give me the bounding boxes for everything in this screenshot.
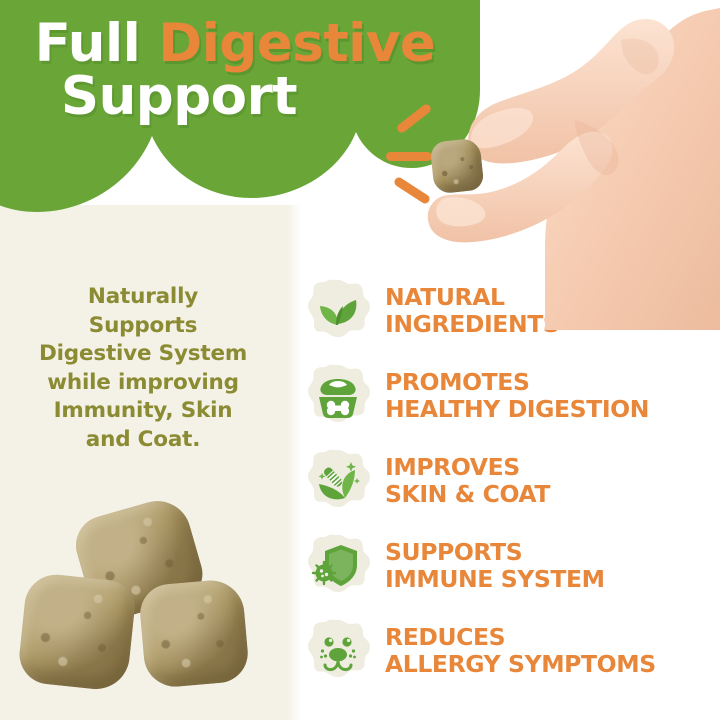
held-kibble	[429, 138, 484, 195]
left-line-4: Immunity, Skin	[8, 397, 278, 426]
benefit-line-1: PROMOTES	[385, 369, 649, 395]
benefit-line-2: ALLERGY SYMPTOMS	[385, 651, 656, 677]
left-description: Naturally Supports Digestive System whil…	[8, 283, 278, 455]
benefits-list: NATURAL INGREDIENTS PR	[305, 268, 720, 693]
benefit-item-healthy-digestion: PROMOTES HEALTHY DIGESTION	[305, 353, 720, 438]
benefit-label: SUPPORTS IMMUNE SYSTEM	[385, 539, 605, 592]
left-line-5: and Coat.	[8, 426, 278, 455]
benefit-line-2: HEALTHY DIGESTION	[385, 396, 649, 422]
dog-face-icon	[305, 618, 371, 684]
infographic-root: Full Digestive Support	[0, 0, 720, 720]
grooming-brush-sparkle-icon	[305, 448, 371, 514]
benefit-line-2: SKIN & COAT	[385, 481, 550, 507]
left-line-0: Naturally	[8, 283, 278, 312]
kibble-pile-photo	[8, 505, 273, 695]
shield-germ-icon	[305, 533, 371, 599]
kibble-piece-left	[17, 572, 138, 693]
left-line-2: Digestive System	[8, 340, 278, 369]
benefit-item-allergy-symptoms: REDUCES ALLERGY SYMPTOMS	[305, 608, 720, 693]
benefit-line-1: REDUCES	[385, 624, 656, 650]
benefit-item-immune-system: SUPPORTS IMMUNE SYSTEM	[305, 523, 720, 608]
benefit-label: PROMOTES HEALTHY DIGESTION	[385, 369, 649, 422]
kibble-piece-right	[138, 578, 251, 690]
benefit-line-1: IMPROVES	[385, 454, 550, 480]
benefit-label: REDUCES ALLERGY SYMPTOMS	[385, 624, 656, 677]
benefit-line-1: SUPPORTS	[385, 539, 605, 565]
benefit-line-2: IMMUNE SYSTEM	[385, 566, 605, 592]
leaves-icon	[305, 278, 371, 344]
benefit-label: IMPROVES SKIN & COAT	[385, 454, 550, 507]
dog-bowl-bone-icon	[305, 363, 371, 429]
benefit-item-skin-coat: IMPROVES SKIN & COAT	[305, 438, 720, 523]
left-line-1: Supports	[8, 312, 278, 341]
left-line-3: while improving	[8, 369, 278, 398]
